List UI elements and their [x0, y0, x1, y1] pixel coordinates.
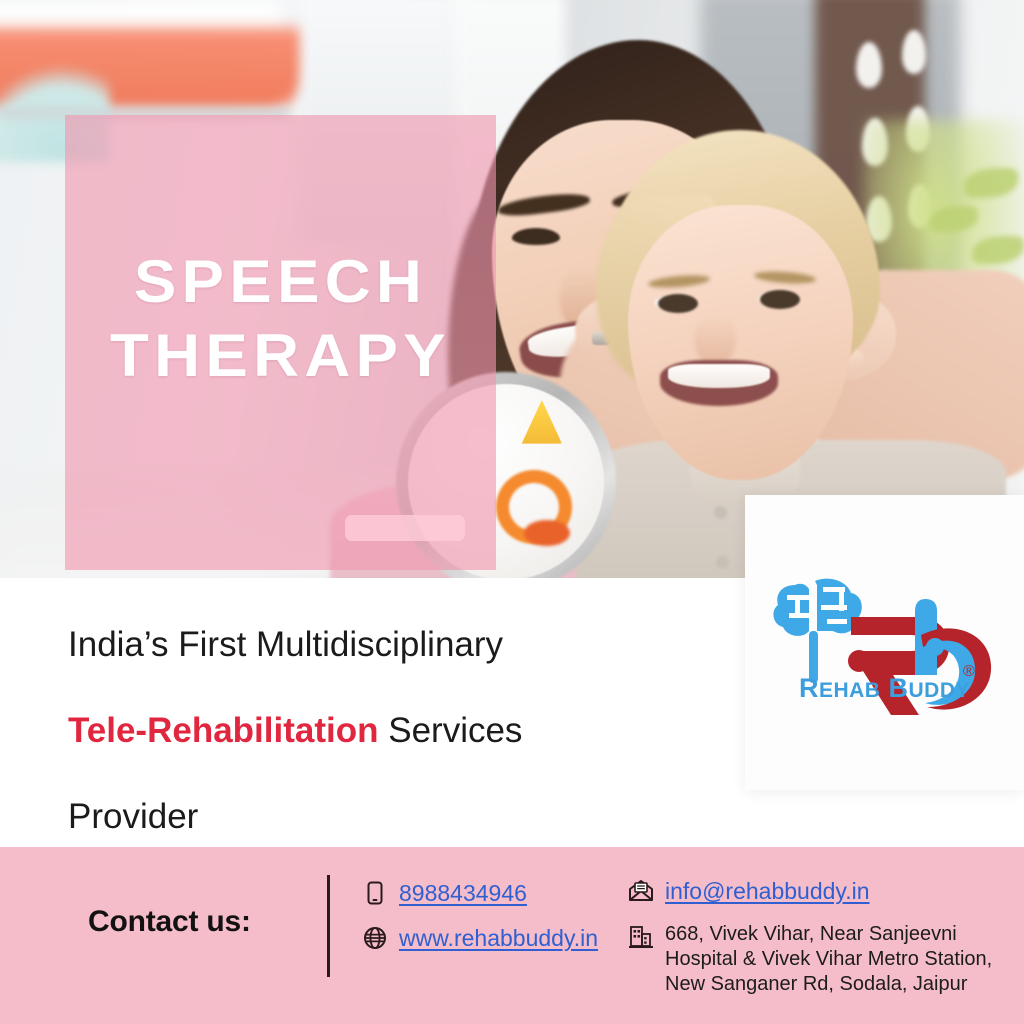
brand-logo-card: REHAB BUDDY ®: [745, 495, 1024, 790]
headline-overlay-panel: SPEECH THERAPY: [65, 115, 496, 570]
wordmark-b: B: [889, 673, 909, 703]
registered-trademark-icon: ®: [963, 663, 975, 681]
globe-icon: [362, 925, 388, 951]
decorative-bar: [345, 515, 465, 541]
phone-icon: [362, 880, 388, 906]
promotional-poster: SPEECH THERAPY India’s First Multidiscip…: [0, 0, 1024, 1024]
contact-email[interactable]: info@rehabbuddy.in: [628, 878, 870, 905]
phone-number[interactable]: 8988434946: [399, 880, 527, 907]
email-address[interactable]: info@rehabbuddy.in: [665, 878, 870, 905]
headline-line-2: THERAPY: [52, 319, 509, 393]
contact-address: 668, Vivek Vihar, Near Sanjeevni Hospita…: [628, 922, 1018, 997]
brain-icon: [773, 579, 861, 683]
contact-phone[interactable]: 8988434946: [362, 880, 527, 907]
tagline-line-2-rest: Services: [379, 711, 523, 750]
hero-headline: SPEECH THERAPY: [65, 115, 496, 394]
tagline-highlight: Tele-Rehabilitation: [68, 711, 379, 750]
envelope-icon: [628, 878, 654, 904]
tagline-line-2: Tele-Rehabilitation Services: [68, 688, 728, 774]
wordmark-r: R: [799, 673, 819, 703]
footer-divider: [327, 875, 330, 977]
headline-line-1: SPEECH: [52, 245, 509, 319]
building-icon: [628, 924, 654, 950]
wordmark-ehab: EHAB: [819, 679, 881, 702]
logo-mark: [745, 555, 1024, 735]
address-text: 668, Vivek Vihar, Near Sanjeevni Hospita…: [665, 922, 1018, 997]
tagline-line-1: India’s First Multidisciplinary: [68, 602, 728, 688]
website-url[interactable]: www.rehabbuddy.in: [399, 925, 598, 952]
logo-wordmark: REHAB BUDDY: [745, 673, 1024, 704]
contact-label: Contact us:: [88, 905, 251, 939]
hero-photo: SPEECH THERAPY: [0, 0, 1024, 578]
wordmark-uddy: UDDY: [909, 679, 971, 702]
tagline-block: India’s First Multidisciplinary Tele-Reh…: [68, 602, 728, 860]
contact-website[interactable]: www.rehabbuddy.in: [362, 925, 598, 952]
